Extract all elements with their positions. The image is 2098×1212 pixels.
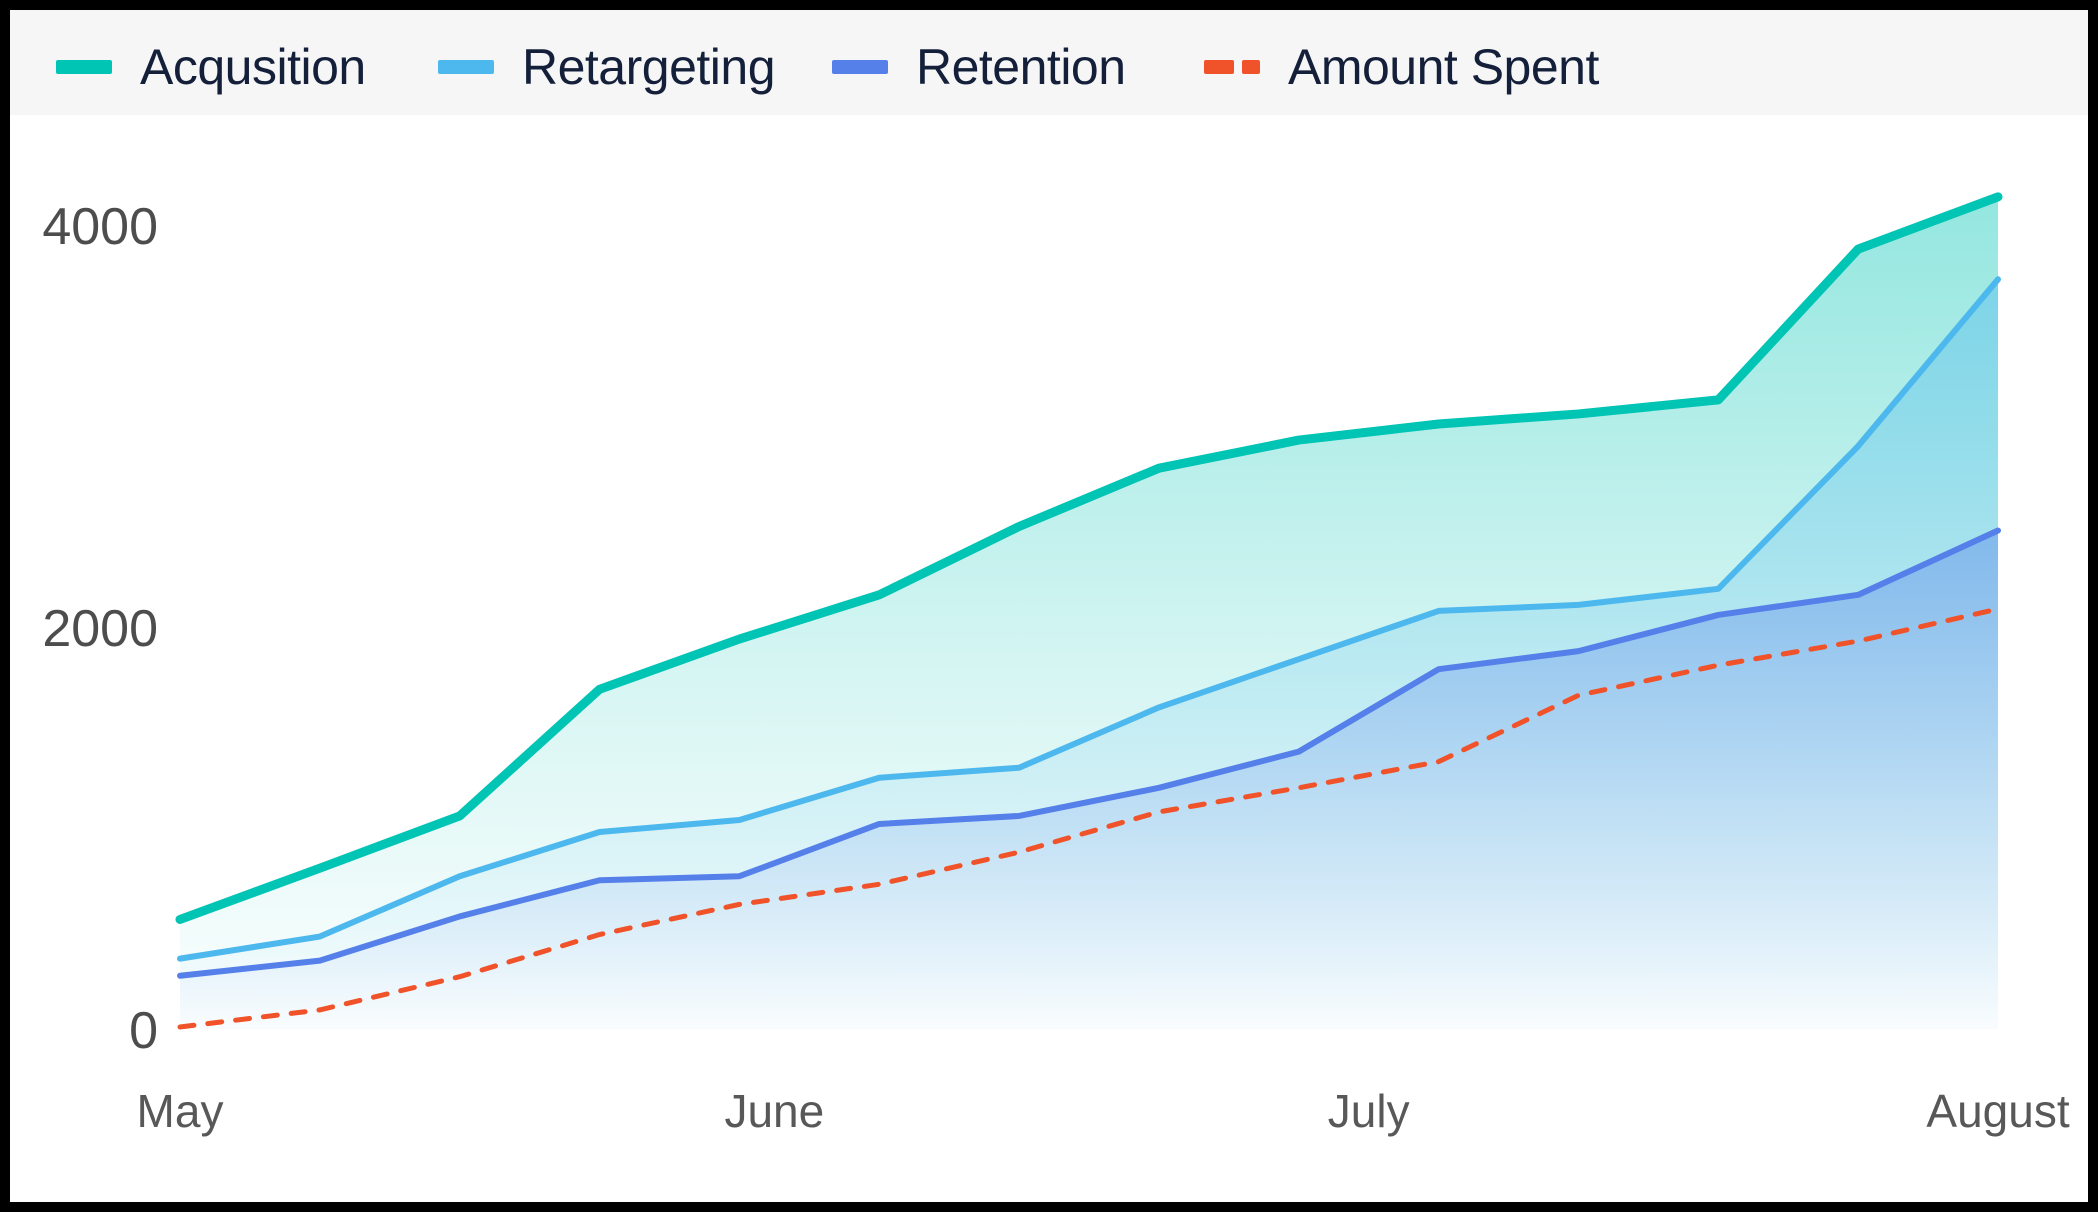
chart-card: AcqusitionRetargetingRetentionAmount Spe… [10, 10, 2088, 1202]
y-axis-tick-label: 2000 [42, 600, 158, 658]
legend-label: Acqusition [140, 38, 366, 96]
legend-label: Retargeting [522, 38, 775, 96]
legend-label: Retention [916, 38, 1126, 96]
x-axis-tick-labels: MayJuneJulyAugust [137, 1085, 2070, 1137]
x-axis-tick-label: May [137, 1085, 224, 1137]
chart-legend: AcqusitionRetargetingRetentionAmount Spe… [10, 10, 2088, 115]
dash-segment [1204, 60, 1234, 74]
legend-item-amount-spent[interactable]: Amount Spent [1204, 38, 1599, 96]
legend-item-retention[interactable]: Retention [832, 38, 1126, 96]
x-axis-tick-label: August [1926, 1085, 2069, 1137]
x-axis-tick-label: July [1328, 1085, 1410, 1137]
dash-segment [1242, 60, 1260, 74]
y-axis-tick-label: 0 [129, 1002, 158, 1060]
legend-item-retargeting[interactable]: Retargeting [438, 38, 775, 96]
screenshot-frame: AcqusitionRetargetingRetentionAmount Spe… [0, 0, 2098, 1212]
chart-plot-area: 020004000 MayJuneJulyAugust [10, 115, 2088, 1202]
legend-swatch-amount-spent-icon [1204, 60, 1260, 74]
legend-swatch-retention-icon [832, 60, 888, 74]
legend-swatch-retargeting-icon [438, 60, 494, 74]
legend-item-acqusition[interactable]: Acqusition [56, 38, 366, 96]
area-chart-svg: 020004000 MayJuneJulyAugust [10, 115, 2088, 1202]
x-axis-tick-label: June [724, 1085, 824, 1137]
y-axis-tick-labels: 020004000 [42, 198, 158, 1060]
legend-swatch-acqusition-icon [56, 60, 112, 74]
y-axis-tick-label: 4000 [42, 198, 158, 256]
legend-label: Amount Spent [1288, 38, 1599, 96]
